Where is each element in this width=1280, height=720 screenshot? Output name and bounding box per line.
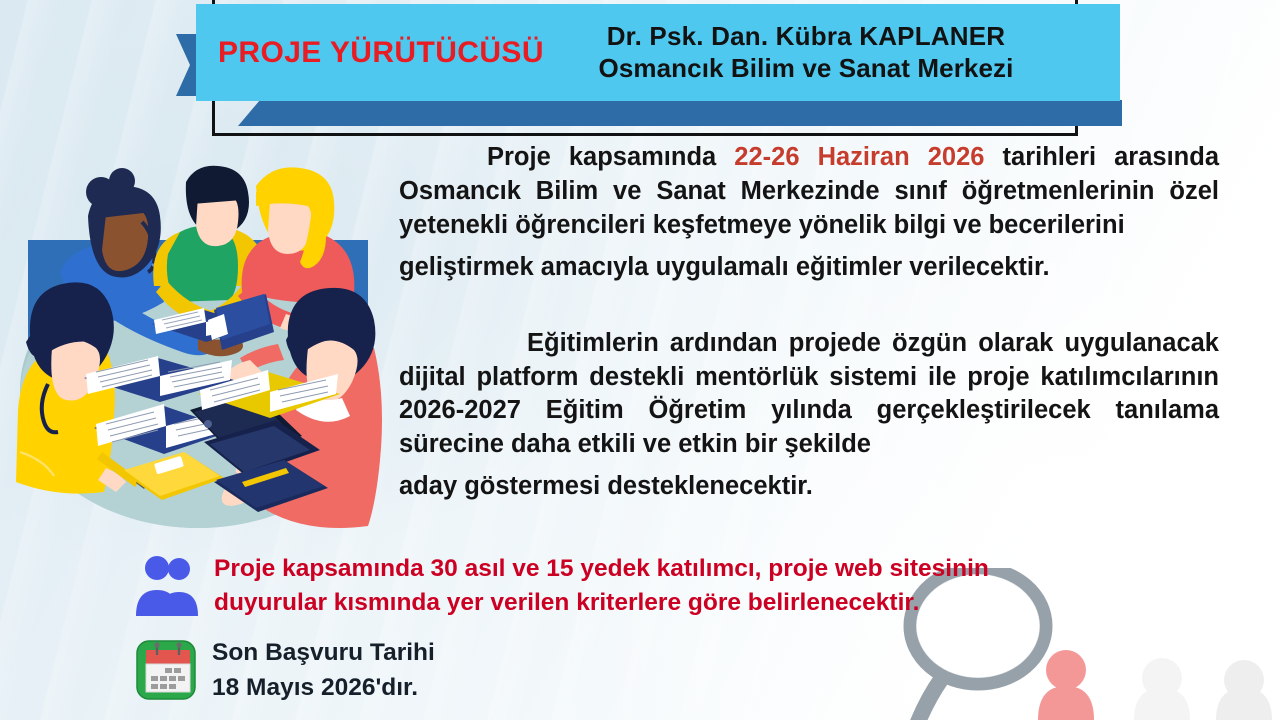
ribbon-label: PROJE YÜRÜTÜCÜSÜ — [196, 36, 538, 70]
paragraph-1-lastline: geliştirmek amacıyla uygulamalı eğitimle… — [399, 251, 1219, 285]
paragraph-1: Proje kapsamında 22-26 Haziran 2026 tari… — [399, 141, 1219, 243]
body-text-column: Proje kapsamında 22-26 Haziran 2026 tari… — [399, 141, 1219, 512]
people-icon — [136, 554, 198, 616]
participants-text: Proje kapsamında 30 asıl ve 15 yedek kat… — [214, 552, 989, 620]
participants-line-1: Proje kapsamında 30 asıl ve 15 yedek kat… — [214, 552, 989, 586]
figure-plain-2 — [1216, 660, 1272, 720]
students-studying-illustration — [2, 152, 394, 540]
presenter-block: Dr. Psk. Dan. Kübra KAPLANER Osmancık Bi… — [538, 21, 1120, 84]
p1-date-highlight: 22-26 Haziran 2026 — [734, 143, 984, 171]
calendar-icon — [136, 638, 196, 700]
figure-highlight — [1038, 650, 1094, 720]
deadline-line-2: 18 Mayıs 2026'dır. — [212, 671, 435, 706]
participants-info-row: Proje kapsamında 30 asıl ve 15 yedek kat… — [136, 552, 1136, 620]
deadline-info-row: Son Başvuru Tarihi 18 Mayıs 2026'dır. — [136, 636, 836, 706]
header-ribbon-shadow-bottom — [238, 100, 1122, 126]
deadline-line-1: Son Başvuru Tarihi — [212, 636, 435, 671]
deadline-text: Son Başvuru Tarihi 18 Mayıs 2026'dır. — [212, 636, 435, 706]
figure-plain-1 — [1134, 658, 1190, 720]
paragraph-2-lastline: aday göstermesi desteklenecektir. — [399, 470, 1219, 504]
p1-before: Proje kapsamında — [487, 143, 734, 171]
presenter-organization: Osmancık Bilim ve Sanat Merkezi — [538, 53, 1074, 85]
presenter-name: Dr. Psk. Dan. Kübra KAPLANER — [538, 21, 1074, 53]
header-banner: PROJE YÜRÜTÜCÜSÜ Dr. Psk. Dan. Kübra KAP… — [196, 4, 1120, 101]
paragraph-2: Eğitimlerin ardından projede özgün olara… — [399, 327, 1219, 463]
participants-line-2: duyurular kısmında yer verilen kriterler… — [214, 586, 989, 620]
poster-canvas: PROJE YÜRÜTÜCÜSÜ Dr. Psk. Dan. Kübra KAP… — [0, 0, 1280, 720]
